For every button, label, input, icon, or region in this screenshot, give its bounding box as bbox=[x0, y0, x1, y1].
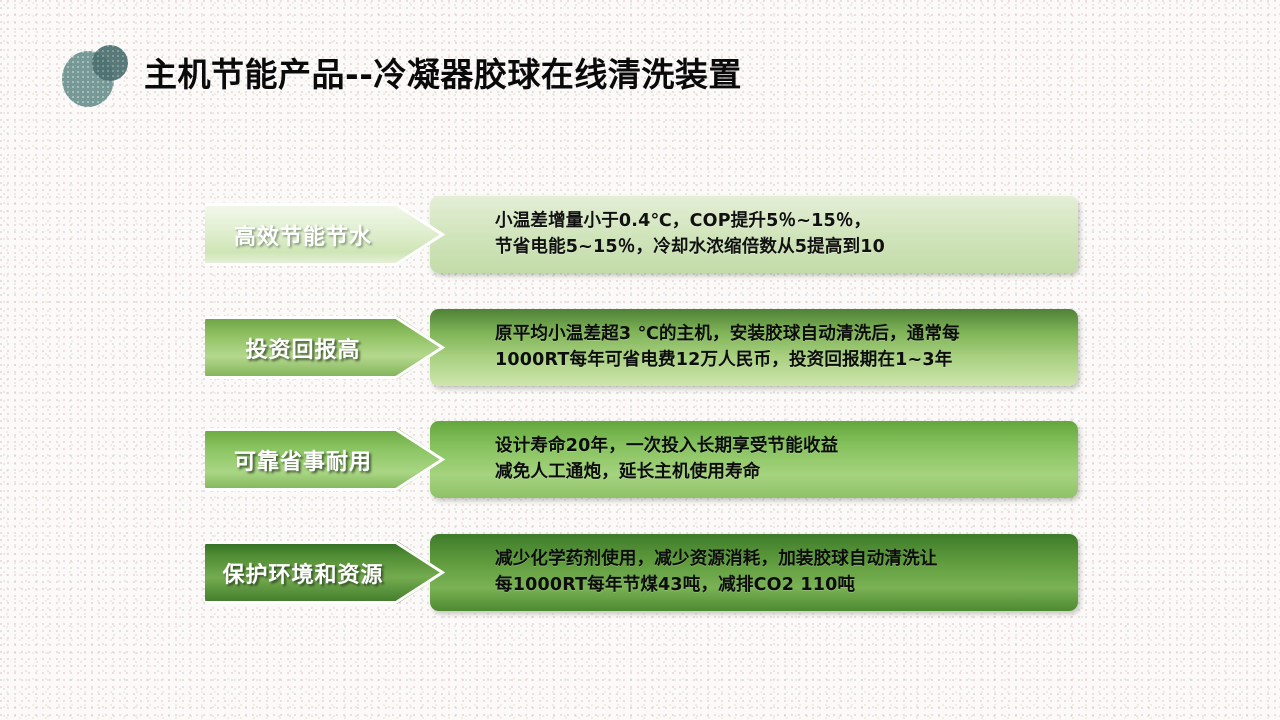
benefit-text-line-2: 每1000RT每年节煤43吨，减排CO2 110吨 bbox=[495, 572, 1085, 598]
benefit-label-text: 投资回报高 bbox=[205, 316, 401, 379]
benefit-text-line-1: 设计寿命20年，一次投入长期享受节能收益 bbox=[495, 433, 1085, 459]
benefit-row[interactable]: 原平均小温差超3 ℃的主机，安装胶球自动清洗后，通常每 1000RT每年可省电费… bbox=[205, 309, 1078, 386]
benefit-content-text: 减少化学药剂使用，减少资源消耗，加装胶球自动清洗让 每1000RT每年节煤43吨… bbox=[495, 546, 1085, 598]
benefit-text-line-2: 节省电能5~15％，冷却水浓缩倍数从5提高到10 bbox=[495, 234, 1085, 260]
benefit-row[interactable]: 减少化学药剂使用，减少资源消耗，加装胶球自动清洗让 每1000RT每年节煤43吨… bbox=[205, 534, 1078, 611]
benefit-text-line-2: 减免人工通炮，延长主机使用寿命 bbox=[495, 459, 1085, 485]
benefit-text-line-1: 减少化学药剂使用，减少资源消耗，加装胶球自动清洗让 bbox=[495, 546, 1085, 572]
benefit-text-line-2: 1000RT每年可省电费12万人民币，投资回报期在1~3年 bbox=[495, 347, 1085, 373]
benefit-row[interactable]: 设计寿命20年，一次投入长期享受节能收益 减免人工通炮，延长主机使用寿命 可靠省… bbox=[205, 421, 1078, 498]
benefit-content-text: 小温差增量小于0.4℃，COP提升5％~15％， 节省电能5~15％，冷却水浓缩… bbox=[495, 208, 1085, 260]
slide-canvas: 主机节能产品--冷凝器胶球在线清洗装置 小温差增量小于0.4℃，COP提升5％~… bbox=[0, 0, 1280, 720]
benefit-text-line-1: 原平均小温差超3 ℃的主机，安装胶球自动清洗后，通常每 bbox=[495, 321, 1085, 347]
benefit-label-text: 高效节能节水 bbox=[205, 203, 401, 266]
benefit-label-text: 保护环境和资源 bbox=[205, 541, 401, 604]
benefit-row[interactable]: 小温差增量小于0.4℃，COP提升5％~15％， 节省电能5~15％，冷却水浓缩… bbox=[205, 196, 1078, 273]
benefit-text-line-1: 小温差增量小于0.4℃，COP提升5％~15％， bbox=[495, 208, 1085, 234]
benefit-content-text: 设计寿命20年，一次投入长期享受节能收益 减免人工通炮，延长主机使用寿命 bbox=[495, 433, 1085, 485]
benefit-label-text: 可靠省事耐用 bbox=[205, 428, 401, 491]
benefit-content-text: 原平均小温差超3 ℃的主机，安装胶球自动清洗后，通常每 1000RT每年可省电费… bbox=[495, 321, 1085, 373]
benefit-rows-list: 小温差增量小于0.4℃，COP提升5％~15％， 节省电能5~15％，冷却水浓缩… bbox=[0, 0, 1280, 720]
